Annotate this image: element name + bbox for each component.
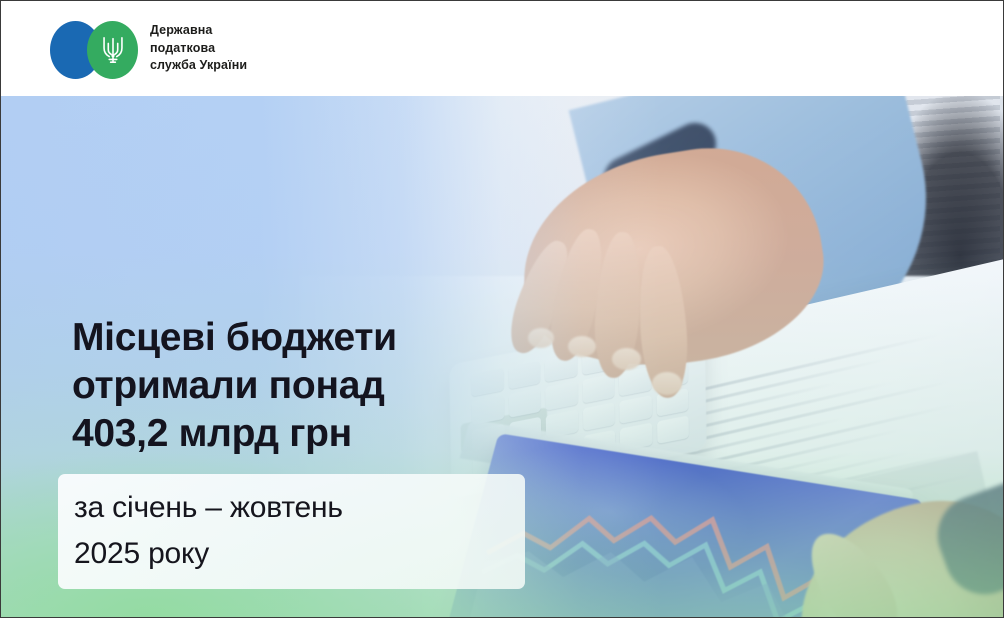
dps-logo[interactable]: Державна податкова служба України [50,21,247,79]
fingernail [568,336,596,357]
subtitle-line-1: за січень – жовтень [74,485,514,531]
fingernail [612,348,641,370]
subtitle-card: за січень – жовтень 2025 року [58,474,525,589]
ukraine-trident-icon [98,34,128,66]
logo-title-line-3: служба України [150,57,247,75]
page-header: Державна податкова служба України [0,0,1004,96]
logo-title: Державна податкова служба України [150,21,247,75]
headline-line-2: отримали понад [72,362,542,410]
subtitle-line-2: 2025 року [74,531,514,577]
headline-line-1: Місцеві бюджети [72,314,542,362]
fingernail [652,372,682,395]
logo-marks [50,21,138,79]
dps-banner: Державна податкова служба України [0,0,1004,618]
logo-title-line-2: податкова [150,40,247,58]
banner-stage: Місцеві бюджети отримали понад 403,2 млр… [0,96,1004,618]
logo-title-line-1: Державна [150,22,247,40]
banner-subtitle: за січень – жовтень 2025 року [74,485,514,577]
headline-line-3: 403,2 млрд грн [72,410,542,458]
banner-headline: Місцеві бюджети отримали понад 403,2 млр… [72,314,542,458]
